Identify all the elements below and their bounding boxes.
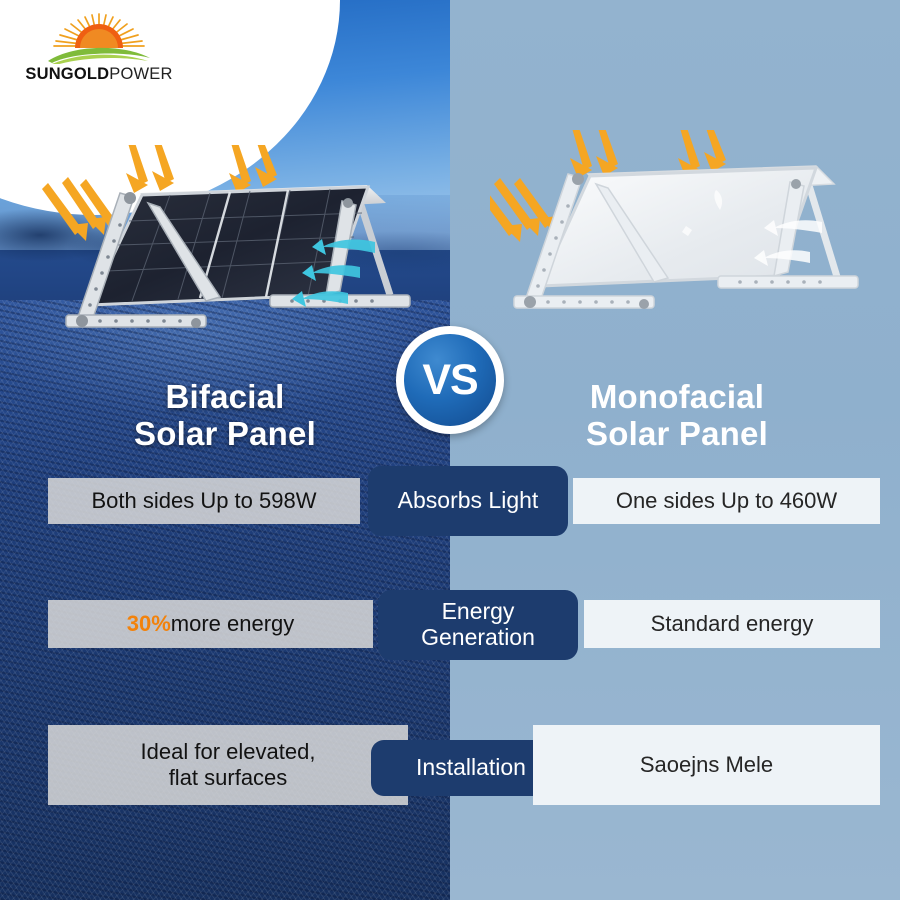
brand-name-bold: SUNGOLD	[25, 65, 109, 83]
infographic-page: SUNGOLDPOWER	[0, 0, 900, 900]
brand-wordmark: SUNGOLDPOWER	[25, 65, 172, 84]
monofacial-panel-illustration	[490, 130, 880, 345]
row-right-value: One sides Up to 460W	[573, 478, 880, 524]
comparison-row: 30% more energy Energy Generation Standa…	[0, 590, 900, 660]
row-left-value: Ideal for elevated, flat surfaces	[48, 725, 408, 805]
feature-label-line2: Generation	[421, 625, 535, 651]
row-right-value: Standard energy	[584, 600, 880, 648]
left-value-line1: Ideal for elevated,	[141, 739, 316, 765]
brand-logo[interactable]: SUNGOLDPOWER	[14, 12, 184, 100]
bifacial-panel-illustration	[30, 145, 430, 360]
row-left-value: Both sides Up to 598W	[48, 478, 360, 524]
right-heading-line1: Monofacial	[590, 378, 764, 415]
left-value-rest: more energy	[171, 611, 295, 637]
right-panel-heading: Monofacial Solar Panel	[470, 378, 884, 453]
feature-label-text: Installation	[416, 755, 526, 781]
left-heading-line1: Bifacial	[166, 378, 285, 415]
brand-name-light: POWER	[109, 65, 172, 83]
row-left-value: 30% more energy	[48, 600, 373, 648]
row-right-value: Saoejns Mele	[533, 725, 880, 805]
left-panel-heading: Bifacial Solar Panel	[18, 378, 432, 453]
right-heading-line2: Solar Panel	[470, 415, 884, 452]
left-heading-line2: Solar Panel	[18, 415, 432, 452]
comparison-row: Both sides Up to 598W Absorbs Light One …	[0, 478, 900, 536]
highlight-percentage: 30%	[127, 611, 171, 637]
comparison-row: Ideal for elevated, flat surfaces Instal…	[0, 725, 900, 809]
sunrise-icon	[40, 12, 158, 64]
left-value-line2: flat surfaces	[141, 765, 316, 791]
feature-label-line1: Energy	[421, 599, 535, 625]
row-feature-label: Absorbs Light	[368, 466, 568, 536]
row-feature-label: Energy Generation	[378, 590, 578, 660]
feature-label-text: Absorbs Light	[398, 488, 539, 514]
